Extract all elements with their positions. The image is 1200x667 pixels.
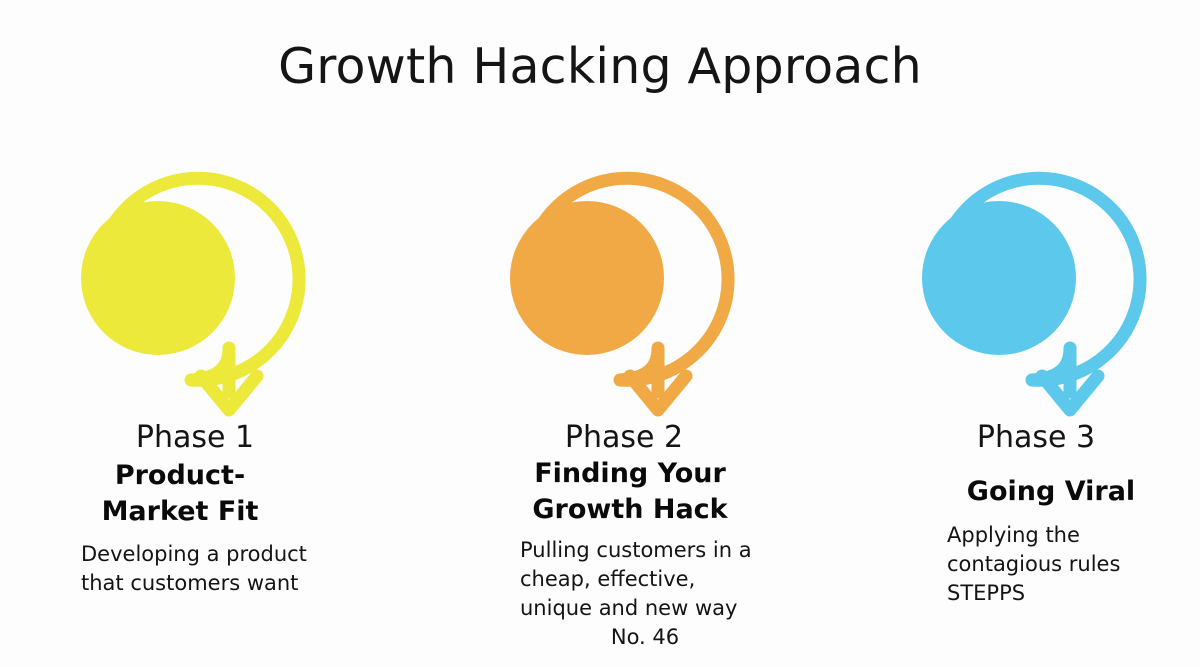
phase-1-heading: Product-Market Fit <box>69 458 291 530</box>
phase-3-spiral-graphic: Phase 3 <box>920 162 1152 450</box>
phase-1-text-block: Product-Market Fit Developing a product … <box>65 458 325 598</box>
phase-1-body: Developing a product that customers want <box>81 540 321 598</box>
spiral-arrow-icon-1 <box>79 162 311 450</box>
phase-2-text-block: Finding YourGrowth Hack Pulling customer… <box>515 456 775 652</box>
phase-2-body: Pulling customers in a cheap, effective,… <box>520 536 770 623</box>
phase-2-note: No. 46 <box>520 623 770 652</box>
spiral-arrow-icon-2 <box>508 162 740 450</box>
phase-column-1: Phase 1 Product-Market Fit Developing a … <box>0 0 379 667</box>
phase-column-2: Phase 2 Finding YourGrowth Hack Pulling … <box>408 0 808 667</box>
phase-3-text-block: Going Viral Applying the contagious rule… <box>934 474 1194 608</box>
phase-column-3: Phase 3 Going Viral Applying the contagi… <box>820 0 1200 667</box>
phase-3-heading: Going Viral <box>934 474 1168 510</box>
phase-2-spiral-graphic: Phase 2 <box>508 162 740 450</box>
slide-canvas: Growth Hacking Approach Phase 1 Product-… <box>0 0 1200 667</box>
spiral-arrow-icon-3 <box>920 162 1152 450</box>
phase-3-body: Applying the contagious rules STEPPS <box>947 521 1187 608</box>
phase-2-heading: Finding YourGrowth Hack <box>515 456 745 528</box>
phase-1-spiral-graphic: Phase 1 <box>79 162 311 450</box>
